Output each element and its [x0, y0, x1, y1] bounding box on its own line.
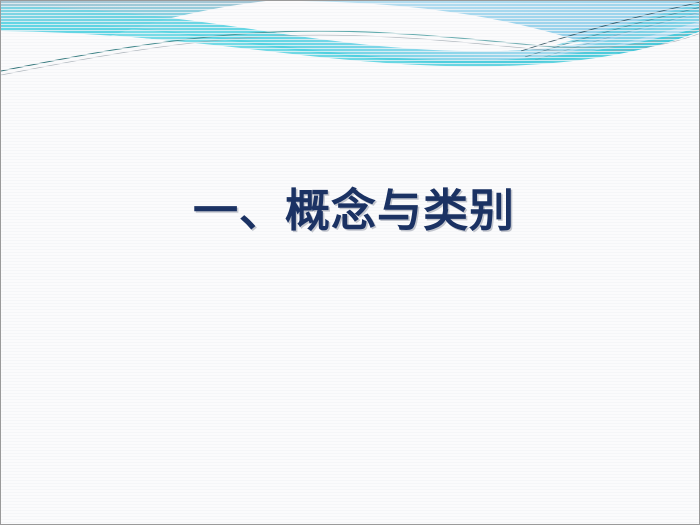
slide-title-container: 一、概念与类别: [1, 182, 700, 240]
wave-banner-decoration: [1, 1, 700, 81]
wave-banner-svg: [1, 1, 700, 81]
page-title: 一、概念与类别: [187, 182, 515, 240]
presentation-slide: 一、概念与类别: [0, 0, 700, 525]
slide-body-placeholder: [49, 261, 653, 491]
